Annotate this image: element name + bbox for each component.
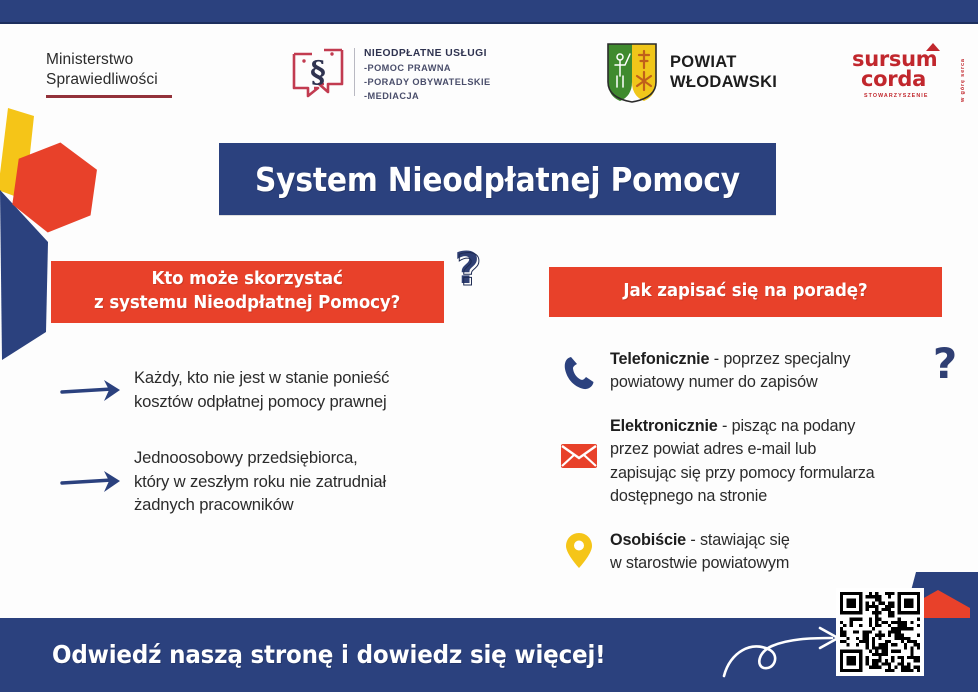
signup-inperson-line-2: w starostwie powiatowym [610, 552, 790, 575]
bullet-1-line-1: Każdy, kto nie jest w stanie ponieść [134, 366, 389, 390]
nieodplatne-uslugi-logo: § NIEODPŁATNE USŁUGI -POMOC PRAWNA -PORA… [288, 44, 491, 103]
bullet-2-line-3: żadnych pracowników [134, 493, 386, 517]
signup-email-line-4: dostępnego na stronie [610, 485, 875, 508]
left-section-heading-box: Kto może skorzystać z systemu Nieodpłatn… [51, 261, 444, 323]
signup-phone-bold: Telefonicznie [610, 350, 709, 368]
signup-methods-list: Telefonicznie - poprzez specjalny powiat… [548, 347, 948, 595]
logo-divider [354, 48, 355, 96]
sursum-word-2: corda [861, 70, 964, 90]
signup-phone-text: Telefonicznie - poprzez specjalny powiat… [610, 347, 850, 395]
left-section-heading: Kto może skorzystać z systemu Nieodpłatn… [94, 268, 400, 315]
list-item: Każdy, kto nie jest w stanie ponieść kos… [60, 366, 490, 413]
list-item-email: Elektronicznie - pisząc na podany przez … [548, 414, 948, 509]
list-item-inperson: Osobiście - stawiając się w starostwie p… [548, 528, 948, 576]
ministry-of-justice-logo: Ministerstwo Sprawiedliwości [46, 50, 172, 98]
red-hexagon-decoration [8, 140, 100, 236]
bullet-2-line-2: który w zeszłym roku nie zatrudniał [134, 470, 386, 494]
signup-inperson-line-1: - stawiając się [686, 531, 790, 549]
npp-item-2: -PORADY OBYWATELSKIE [364, 76, 491, 90]
signup-email-line-1: - pisząc na podany [718, 417, 856, 435]
yellow-shard-decoration [0, 108, 88, 258]
speech-bubble-paragraph-icon: § [288, 44, 348, 100]
signup-inperson-text: Osobiście - stawiając się w starostwie p… [610, 528, 790, 576]
arrow-right-icon [60, 376, 134, 404]
left-heading-line-1: Kto może skorzystać [152, 269, 343, 289]
bullet-1-line-2: kosztów odpłatnej pomocy prawnej [134, 390, 389, 414]
signup-email-bold: Elektronicznie [610, 417, 718, 435]
ministry-line-2: Sprawiedliwości [46, 70, 172, 90]
coat-of-arms-icon [606, 42, 658, 104]
list-item-phone: Telefonicznie - poprzez specjalny powiat… [548, 347, 948, 395]
roof-accent-icon [926, 43, 940, 51]
svg-text:§: § [310, 55, 326, 90]
sursum-subtitle: STOWARZYSZENIE [864, 93, 964, 99]
phone-icon [562, 355, 596, 391]
top-navy-bar [0, 0, 978, 24]
qr-code-icon[interactable] [836, 588, 924, 676]
bullet-text: Każdy, kto nie jest w stanie ponieść kos… [134, 366, 389, 413]
ministry-line-1: Ministerstwo [46, 50, 172, 70]
right-section-heading-box: Jak zapisać się na poradę? [549, 267, 942, 317]
signup-inperson-bold: Osobiście [610, 531, 686, 549]
right-section-heading: Jak zapisać się na poradę? [623, 280, 867, 304]
page-title: System Nieodpłatnej Pomocy [255, 160, 740, 199]
powiat-line-1: POWIAT [670, 53, 777, 73]
bullet-2-line-1: Jednoosobowy przedsiębiorca, [134, 446, 386, 470]
sursum-vertical-tagline: w górę serca [960, 56, 966, 102]
arrow-right-icon [60, 467, 134, 495]
npp-item-1: -POMOC PRAWNA [364, 62, 491, 76]
infographic-poster: Ministerstwo Sprawiedliwości § NIEODPŁAT… [0, 0, 978, 692]
location-pin-icon [564, 532, 594, 570]
sursum-corda-logo: sursum corda STOWARZYSZENIE w górę serca [852, 50, 964, 112]
footer-text: Odwiedź naszą stronę i dowiedz się więce… [52, 640, 605, 669]
powiat-wlodawski-logo: POWIAT WŁODAWSKI [606, 42, 777, 104]
signup-email-line-3: zapisując się przy pomocy formularza [610, 462, 875, 485]
eligibility-list: Każdy, kto nie jest w stanie ponieść kos… [60, 366, 490, 550]
left-heading-line-2: z systemu Nieodpłatnej Pomocy? [94, 293, 400, 313]
npp-title: NIEODPŁATNE USŁUGI [364, 47, 491, 62]
list-item: Jednoosobowy przedsiębiorca, który w zes… [60, 446, 490, 517]
signup-phone-line-2: powiatowy numer do zapisów [610, 371, 850, 394]
envelope-icon [560, 442, 598, 470]
npp-item-3: -MEDIACJA [364, 90, 491, 104]
svg-text:?: ? [456, 245, 482, 296]
signup-phone-line-1: - poprzez specjalny [709, 350, 850, 368]
signup-email-text: Elektronicznie - pisząc na podany przez … [610, 414, 875, 509]
ministry-rule [46, 95, 172, 98]
main-title-banner: System Nieodpłatnej Pomocy [219, 143, 776, 215]
logo-header: Ministerstwo Sprawiedliwości § NIEODPŁAT… [0, 28, 978, 120]
question-mark-icon: ? ? [447, 243, 493, 305]
powiat-line-2: WŁODAWSKI [670, 73, 777, 93]
signup-email-line-2: przez powiat adres e-mail lub [610, 438, 875, 461]
bullet-text: Jednoosobowy przedsiębiorca, który w zes… [134, 446, 386, 517]
